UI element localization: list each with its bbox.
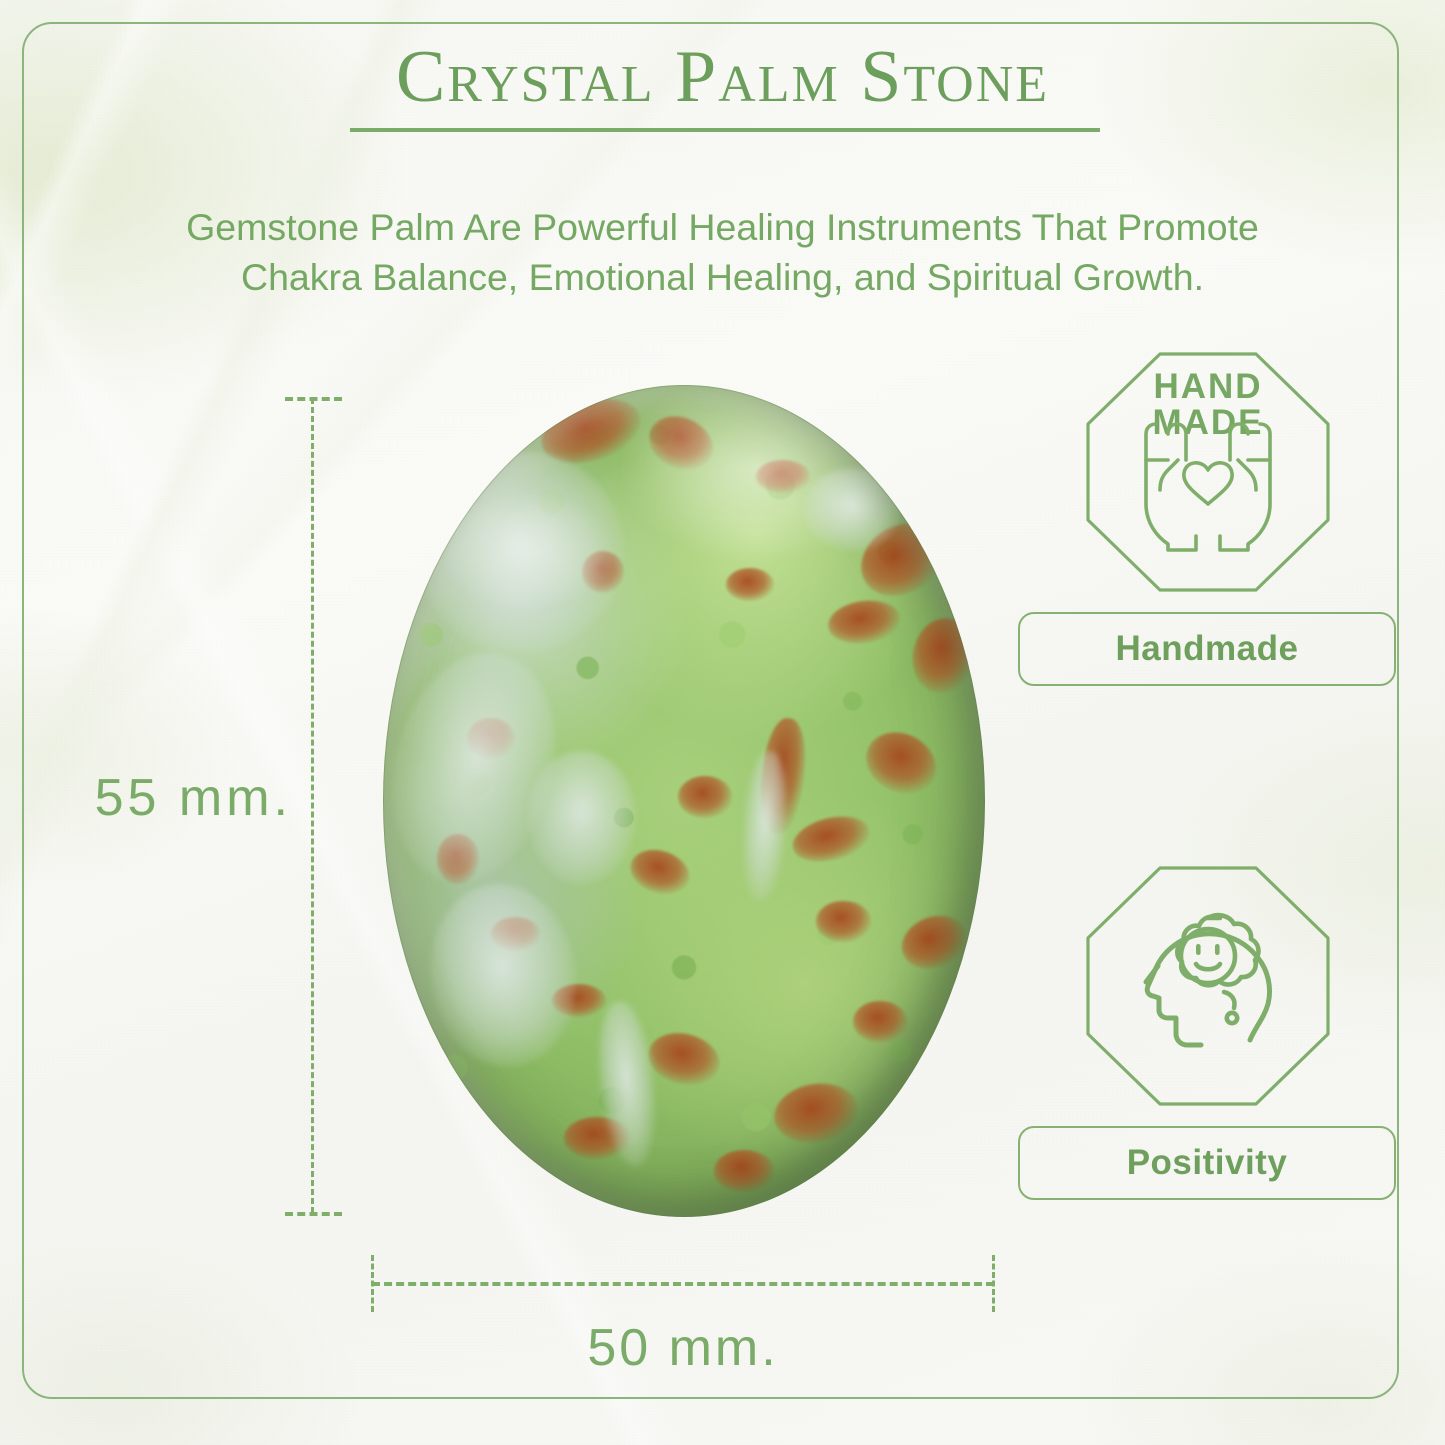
gemstone-product-image bbox=[383, 385, 985, 1217]
badge-icon-text-line2: MADE bbox=[1152, 403, 1263, 442]
badge-label-handmade[interactable]: Handmade bbox=[1018, 612, 1396, 686]
height-dimension-label: 55 mm. bbox=[62, 768, 292, 828]
feature-badge-positivity: Positivity bbox=[1018, 862, 1398, 1200]
badge-label-text: Positivity bbox=[1127, 1143, 1288, 1183]
gemstone-edge-shading bbox=[383, 385, 985, 1217]
width-dimension-line bbox=[372, 1282, 994, 1286]
height-dimension-line bbox=[311, 398, 314, 1213]
head-brain-smiley-icon bbox=[1082, 862, 1334, 1110]
height-dimension-cap-bottom bbox=[285, 1212, 342, 1216]
badge-label-positivity[interactable]: Positivity bbox=[1018, 1126, 1396, 1200]
hands-holding-heart-icon: HAND MADE bbox=[1082, 348, 1334, 596]
badge-label-text: Handmade bbox=[1116, 629, 1299, 669]
width-dimension-cap-right bbox=[992, 1255, 995, 1312]
page-subtitle: Gemstone Palm Are Powerful Healing Instr… bbox=[140, 203, 1305, 303]
width-dimension-label: 50 mm. bbox=[372, 1318, 994, 1378]
badge-icon-text-line1: HAND bbox=[1153, 367, 1262, 406]
title-underline-rule bbox=[350, 128, 1100, 132]
feature-badge-handmade: HAND MADE bbox=[1018, 348, 1398, 686]
page-title: Crystal Palm Stone bbox=[0, 40, 1445, 114]
gemstone-body bbox=[383, 385, 985, 1217]
product-infographic: Crystal Palm Stone Gemstone Palm Are Pow… bbox=[0, 0, 1445, 1445]
